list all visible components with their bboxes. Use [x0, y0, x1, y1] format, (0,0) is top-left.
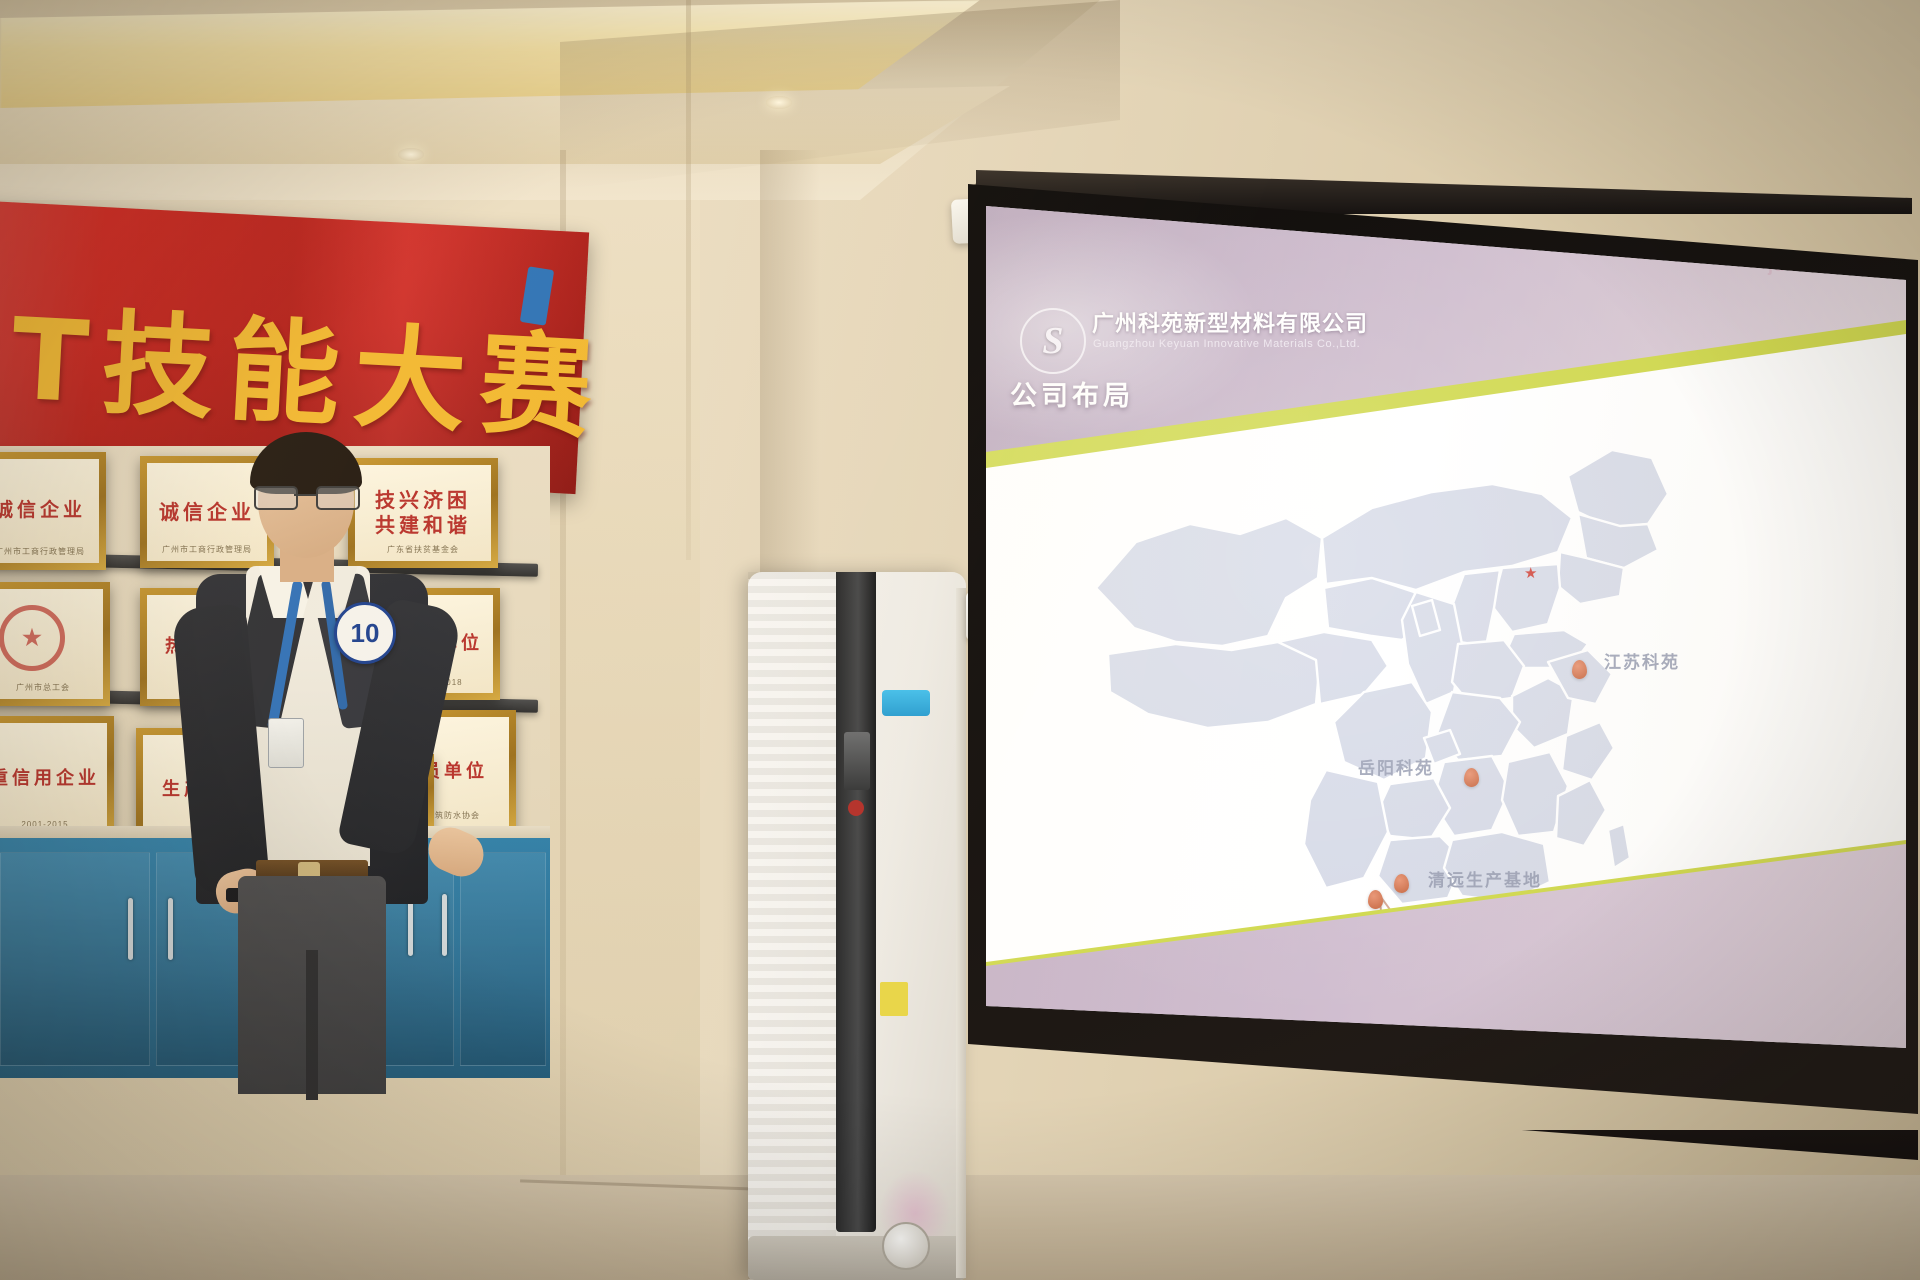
- air-conditioner-unit: [748, 572, 966, 1280]
- hand-right: [421, 821, 490, 884]
- certificate-frame: ★ 广州市总工会: [0, 582, 110, 706]
- capital-marker-icon: ★: [1524, 564, 1537, 582]
- official-seal-icon: ★: [0, 605, 65, 671]
- ac-brand-badge: [882, 690, 930, 716]
- location-pin-qingyuan: [1394, 874, 1409, 893]
- certificate-frame: 诚信企业 广州市工商行政管理局: [0, 452, 106, 570]
- cabinet-handle[interactable]: [168, 898, 173, 960]
- wall-conduit: [956, 588, 966, 1278]
- ac-base-knob: [882, 1222, 930, 1270]
- ac-front-panel: [836, 572, 876, 1232]
- hair: [250, 432, 362, 494]
- certificate-title: 诚信企业: [0, 499, 86, 523]
- id-card: [268, 718, 304, 768]
- ac-display: [844, 732, 870, 790]
- location-pin-guangzhou: [1368, 890, 1383, 909]
- downlight-icon: [766, 96, 792, 109]
- screen-bottom-bar: [968, 1130, 1918, 1250]
- company-name-en: Guangzhou Keyuan Innovative Materials Co…: [1093, 338, 1360, 350]
- glasses-bridge: [294, 494, 316, 496]
- map-label-jiangsu: 江苏科苑: [1604, 648, 1680, 673]
- ac-warning-label: [880, 982, 908, 1016]
- projection-screen: S 广州科苑新型材料有限公司 Guangzhou Keyuan Innovati…: [968, 170, 1920, 1280]
- ac-vent-grill: [748, 572, 836, 1280]
- trouser-seam: [306, 950, 318, 1100]
- contestant-number-badge: 10: [334, 602, 396, 664]
- map-label-yueyang: 岳阳科苑: [1358, 754, 1434, 779]
- certificate-subtitle: 广州市总工会: [0, 682, 103, 693]
- location-pin-yueyang: [1464, 768, 1479, 787]
- downlight-icon: [398, 148, 424, 161]
- lens-right: [316, 486, 360, 510]
- presentation-slide: S 广州科苑新型材料有限公司 Guangzhou Keyuan Innovati…: [986, 206, 1906, 1086]
- ac-base: [748, 1236, 966, 1280]
- presenter: 10: [180, 430, 530, 1090]
- presentation-room-photo: PT技能大赛 诚信企业 广州市工商行政管理局 诚信企业 广州市工商行政管理局 技…: [0, 0, 1920, 1280]
- wall-seam-upper: [686, 0, 691, 560]
- eyeglasses-icon: [254, 486, 358, 506]
- lens-left: [254, 486, 298, 510]
- certificate-title: 重信用企业: [0, 768, 100, 791]
- ac-power-button[interactable]: [848, 800, 864, 816]
- company-logo-icon: S: [1020, 308, 1086, 374]
- cabinet-handle[interactable]: [128, 898, 133, 960]
- certificate-subtitle: 广州市工商行政管理局: [0, 546, 99, 557]
- map-label-qingyuan: 清远生产基地: [1428, 866, 1542, 891]
- location-pin-jiangsu: [1572, 660, 1587, 679]
- company-name-cn: 广州科苑新型材料有限公司: [1092, 306, 1368, 338]
- certificate-frame: 重信用企业 2001-2015: [0, 716, 114, 842]
